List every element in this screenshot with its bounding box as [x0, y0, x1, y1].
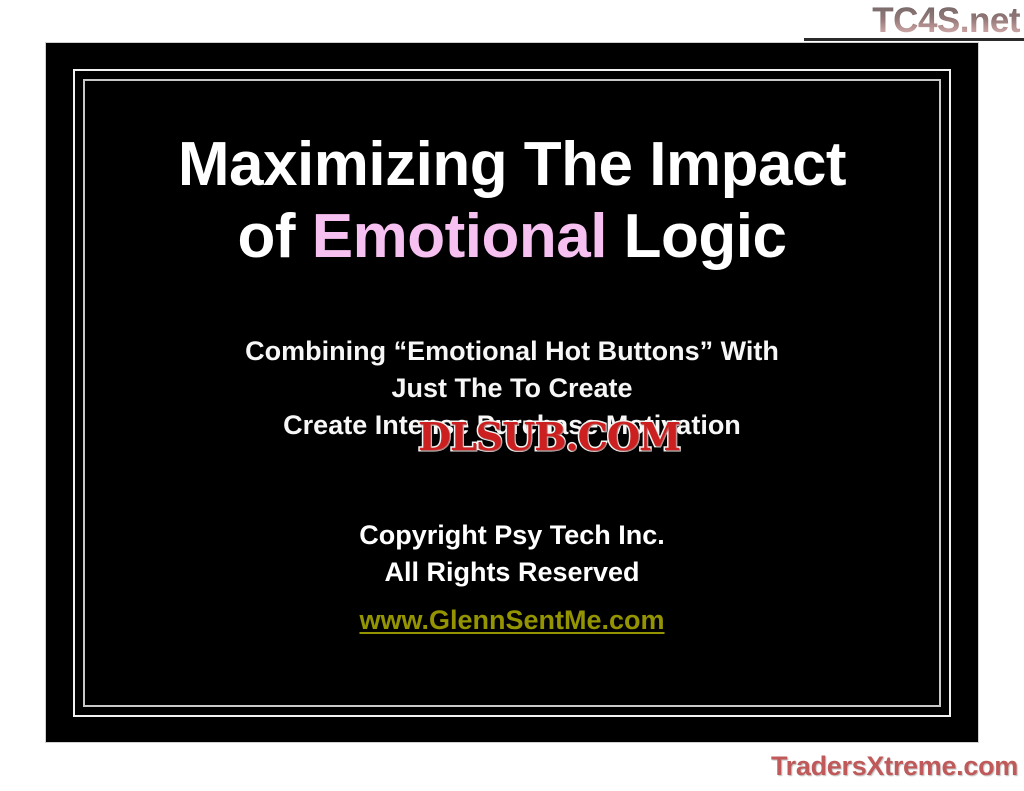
top-watermark-rule	[804, 38, 1024, 41]
slide-copyright: Copyright Psy Tech Inc. All Rights Reser…	[46, 517, 978, 591]
slide-title-line-1: Maximizing The Impact	[46, 129, 978, 201]
website-link[interactable]: www.GlennSentMe.com	[46, 605, 978, 636]
slide-canvas: Maximizing The Impact of Emotional Logic…	[46, 43, 978, 742]
tc4s-watermark-text: TC4S.net	[872, 1, 1020, 41]
tradersxtreme-watermark-text: TradersXtreme.com	[771, 751, 1018, 782]
slide-title-prefix: of	[238, 202, 312, 271]
slide-subtitle-line-1: Combining “Emotional Hot Buttons” With	[46, 333, 978, 370]
slide-title-accent-word: Emotional	[312, 202, 607, 271]
top-watermark: TC4S.net	[0, 0, 1024, 44]
copyright-line-1: Copyright Psy Tech Inc.	[46, 517, 978, 554]
slide-content: Maximizing The Impact of Emotional Logic…	[46, 43, 978, 742]
slide-title-suffix: Logic	[607, 202, 787, 271]
slide-subtitle-line-2: Just The To Create	[46, 370, 978, 407]
slide-subtitle: Combining “Emotional Hot Buttons” With J…	[46, 333, 978, 444]
slide-title: Maximizing The Impact of Emotional Logic	[46, 129, 978, 273]
slide-title-line-2: of Emotional Logic	[46, 201, 978, 273]
copyright-line-2: All Rights Reserved	[46, 554, 978, 591]
slide-subtitle-line-3: Create Intense Purchase Motivation	[46, 407, 978, 444]
